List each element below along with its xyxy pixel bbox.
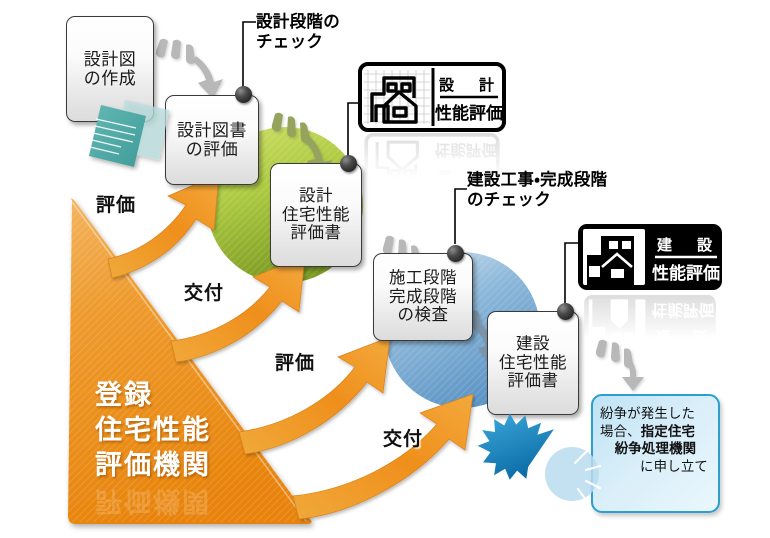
leader-line-construction-mark <box>565 243 578 303</box>
diagram-canvas: 評価機関 <box>0 0 770 538</box>
caption-line: のチェック <box>467 190 607 210</box>
caption-line: 設計段階の <box>256 12 340 32</box>
dispute-burst-icon <box>478 414 600 501</box>
knob-design-report <box>340 155 357 172</box>
document-icon <box>89 100 169 167</box>
flow-label-issuance-2: 交付 <box>383 424 423 451</box>
caption-line: 建設工事・完成段階 <box>467 170 607 190</box>
knob-design-doc-eval <box>235 86 252 103</box>
flow-label-issuance-1: 交付 <box>184 278 224 305</box>
overlay-graphics <box>0 0 770 538</box>
knob-construction-inspection <box>447 245 464 262</box>
caption-design-stage-check: 設計段階の チェック <box>256 12 340 52</box>
caption-construction-stage-check: 建設工事・完成段階 のチェック <box>467 170 607 210</box>
knob-construction-report <box>557 303 574 320</box>
flow-label-evaluation-2: 評価 <box>275 348 315 375</box>
caption-line: チェック <box>256 32 340 52</box>
flow-label-evaluation-1: 評価 <box>96 190 136 217</box>
leader-line-design-check <box>243 22 256 94</box>
leader-line-construction-check <box>455 189 467 244</box>
